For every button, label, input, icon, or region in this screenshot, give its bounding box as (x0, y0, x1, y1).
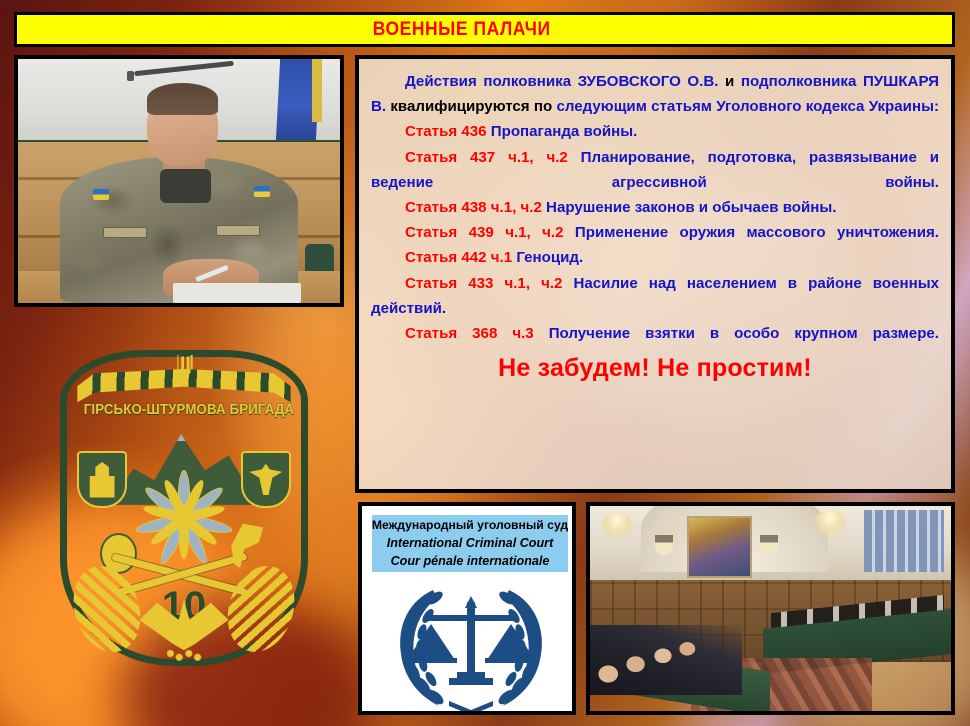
article-line: Статья 438 ч.1, ч.2 Нарушение законов и … (371, 195, 939, 220)
article-number: Статья 439 (405, 224, 494, 241)
eagle-crest-icon (241, 451, 291, 508)
eagle-glyph-icon (249, 464, 282, 496)
intro-seg-5: следующим статьям Уголовного кодекса Укр… (556, 98, 939, 115)
article-text: Применение оружия массового уничтожения. (575, 224, 939, 241)
hair (147, 83, 218, 115)
article-parts: ч.1 (491, 249, 512, 266)
flag-shoulder-patch-icon (254, 186, 270, 197)
scales-of-justice-laurel-wreath-icon (362, 568, 572, 715)
article-line: Статья 368 ч.3 Получение взятки в особо … (371, 321, 939, 346)
brigade-patch-emblem: ГІРСЬКО-ШТУРМОВА БРИГАДА (60, 350, 308, 666)
icc-logo-panel: Международный уголовный суд Internationa… (358, 502, 576, 715)
city-crest-icon (77, 451, 127, 508)
undershirt (160, 169, 212, 203)
article-line: Статья 442 ч.1 Геноцид. (371, 245, 939, 270)
article-parts: ч.1, ч.2 (508, 149, 568, 166)
patch-ribbon-label: ГІРСЬКО-ШТУРМОВА БРИГАДА (84, 401, 285, 418)
article-text: Нарушение законов и обычаев войны. (546, 199, 836, 216)
article-number: Статья 437 (405, 149, 495, 166)
chandelier-icon (601, 512, 633, 539)
title-banner: ВОЕННЫЕ ПАЛАЧИ (14, 12, 955, 47)
article-parts: ч.1, ч.2 (491, 199, 542, 216)
article-parts: ч.3 (512, 325, 533, 342)
article-number: Статья 436 (405, 123, 487, 140)
page-title: ВОЕННЫЕ ПАЛАЧИ (373, 19, 551, 41)
poster-root: ВОЕННЫЕ ПАЛАЧИ ГІРСЬКО-Ш (0, 0, 970, 726)
gate-glyph-icon (87, 461, 118, 498)
stained-glass-window (864, 510, 943, 572)
closing-slogan: Не забудем! Не простим! (371, 354, 939, 383)
wall-painting (687, 516, 752, 578)
microphone-base-icon (127, 71, 134, 81)
berries-icon (164, 644, 204, 663)
icc-title-band: Международный уголовный суд Internationa… (372, 515, 568, 572)
paper-sheet (173, 283, 302, 303)
courtroom-photo (586, 502, 955, 715)
edelweiss-flower-icon (134, 470, 233, 565)
icc-title-en: International Criminal Court (387, 534, 554, 552)
article-line: Статья 433 ч.1, ч.2 Насилие над населени… (371, 271, 939, 321)
flag-yellow-stripe (312, 59, 322, 122)
name-tag (216, 225, 260, 236)
intro-seg-1: Действия полковника ЗУБОВСКОГО О.В. (405, 73, 718, 90)
article-line: Статья 439 ч.1, ч.2 Применение оружия ма… (371, 220, 939, 245)
article-parts: ч.1, ч.2 (505, 224, 563, 241)
flag-shoulder-patch-icon (93, 189, 109, 200)
intro-seg-4: квалифицируются по (386, 98, 556, 115)
article-number: Статья 438 (405, 199, 487, 216)
article-parts: ч.1, ч.2 (504, 275, 562, 292)
audience (590, 625, 742, 695)
article-text: Получение взятки в особо крупном размере… (549, 325, 939, 342)
article-number: Статья 442 (405, 249, 487, 266)
article-text: Геноцид. (516, 249, 583, 266)
officer-photo (14, 55, 344, 307)
name-tag (103, 227, 147, 238)
article-line: Статья 437 ч.1, ч.2 Планирование, подгот… (371, 145, 939, 195)
pendant-lamp-icon (760, 535, 778, 556)
article-number: Статья 433 (405, 275, 493, 292)
pendant-lamp-icon (655, 535, 673, 556)
intro-seg-2: и (718, 73, 740, 90)
main-text-panel: Действия полковника ЗУБОВСКОГО О.В. и по… (355, 55, 955, 493)
chandelier-icon (814, 510, 846, 537)
article-line: Статья 436 Пропаганда войны. (371, 119, 939, 144)
intro-paragraph: Действия полковника ЗУБОВСКОГО О.В. и по… (371, 69, 939, 119)
icc-title-ru: Международный уголовный суд (372, 517, 568, 534)
article-text: Пропаганда войны. (491, 123, 638, 140)
article-number: Статья 368 (405, 325, 497, 342)
